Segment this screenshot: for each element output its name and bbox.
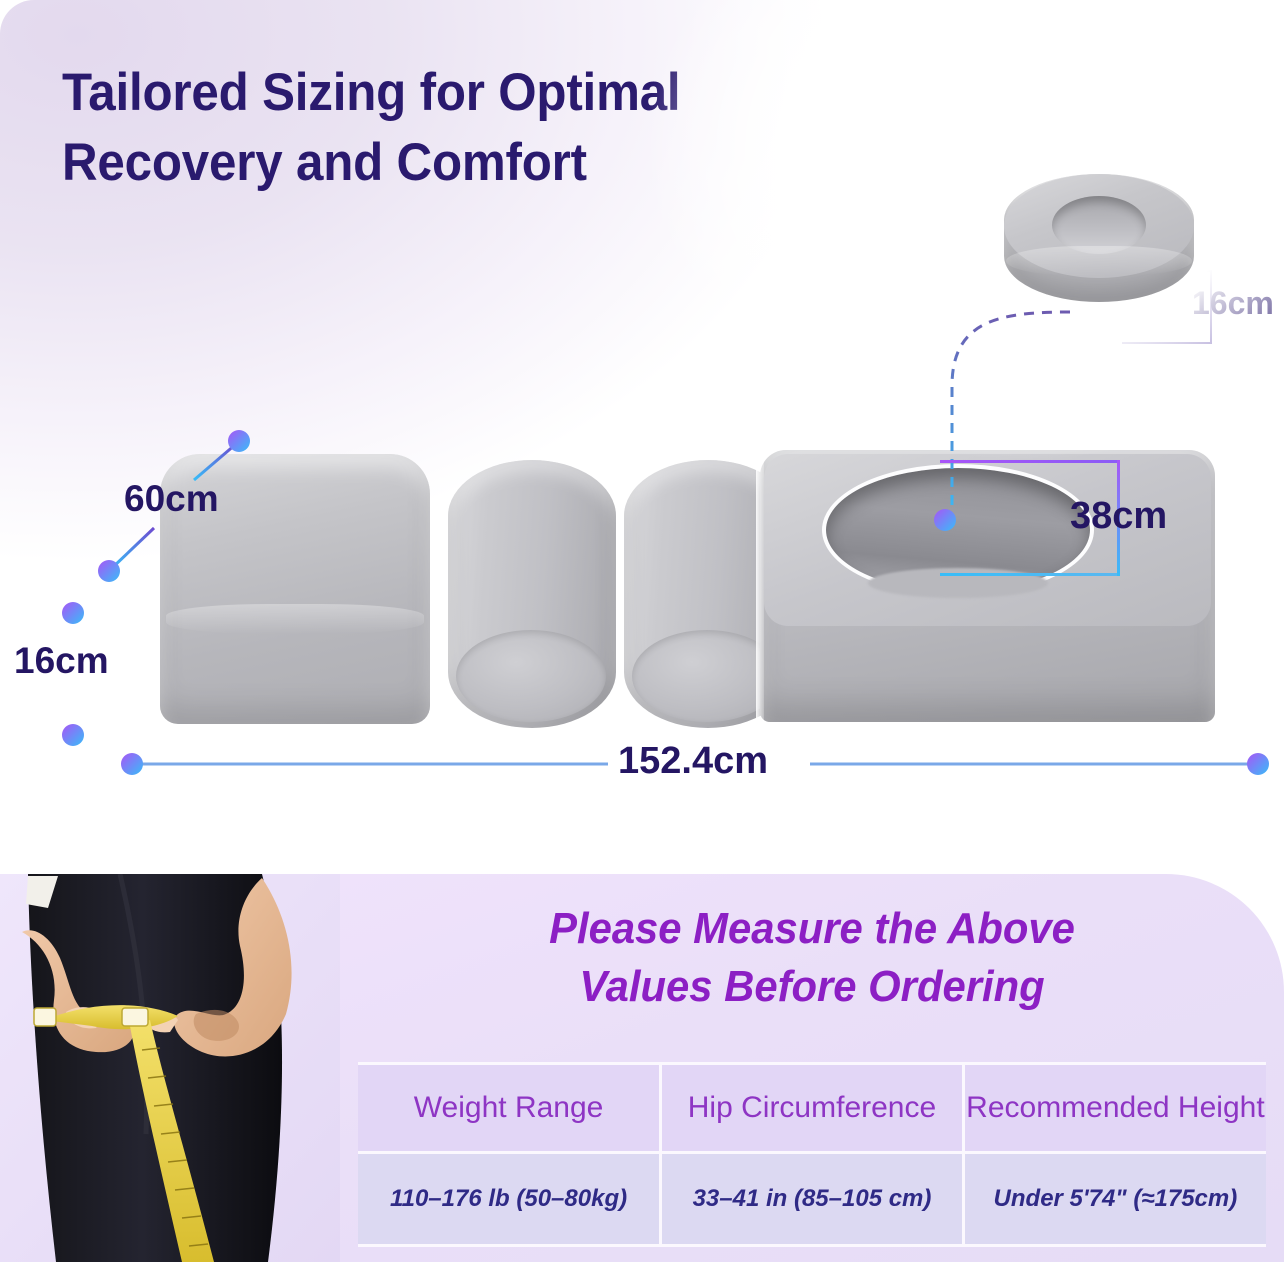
width-dimension-label: 60cm <box>124 478 219 520</box>
product-dimensions-section: Tailored Sizing for Optimal Recovery and… <box>0 0 1284 872</box>
value-weight-range: 110–176 lb (50–80kg) <box>390 1185 627 1212</box>
table-cell: 110–176 lb (50–80kg) <box>358 1153 661 1246</box>
donut-outer-width-label: 38cm <box>1046 54 1138 96</box>
hole-center-marker <box>925 500 965 540</box>
table-cell: 33–41 in (85–105 cm) <box>661 1153 964 1246</box>
table-cell: Under 5'74" (≈175cm) <box>963 1153 1266 1246</box>
sizing-table: Weight Range Hip Circumference Recommend… <box>358 1062 1266 1247</box>
page-title: Tailored Sizing for Optimal Recovery and… <box>62 58 825 199</box>
header-recommended-height: Recommended Height <box>966 1091 1265 1124</box>
header-hip-circumference: Hip Circumference <box>688 1091 936 1124</box>
height-dimension-label: 16cm <box>14 640 109 682</box>
table-header-cell: Weight Range <box>358 1064 661 1153</box>
value-recommended-height: Under 5'74" (≈175cm) <box>994 1185 1238 1212</box>
table-header-row: Weight Range Hip Circumference Recommend… <box>358 1064 1266 1153</box>
measure-heading: Please Measure the Above Values Before O… <box>364 900 1261 1016</box>
table-header-cell: Recommended Height <box>963 1064 1266 1153</box>
hip-measurement-photo <box>0 874 340 1262</box>
measurement-table-panel: Please Measure the Above Values Before O… <box>340 874 1284 1262</box>
length-dimension-label: 152.4cm <box>618 740 768 783</box>
donut-cushion-seam <box>1006 246 1192 276</box>
hole-diameter-label: 38cm <box>1070 495 1167 538</box>
header-weight-range: Weight Range <box>414 1091 604 1124</box>
measurement-guide-section: Please Measure the Above Values Before O… <box>0 874 1284 1262</box>
table-row: 110–176 lb (50–80kg) 33–41 in (85–105 cm… <box>358 1153 1266 1246</box>
table-header-cell: Hip Circumference <box>661 1064 964 1153</box>
bolster-cushion-1 <box>448 460 616 728</box>
value-hip-circumference: 33–41 in (85–105 cm) <box>693 1185 932 1212</box>
